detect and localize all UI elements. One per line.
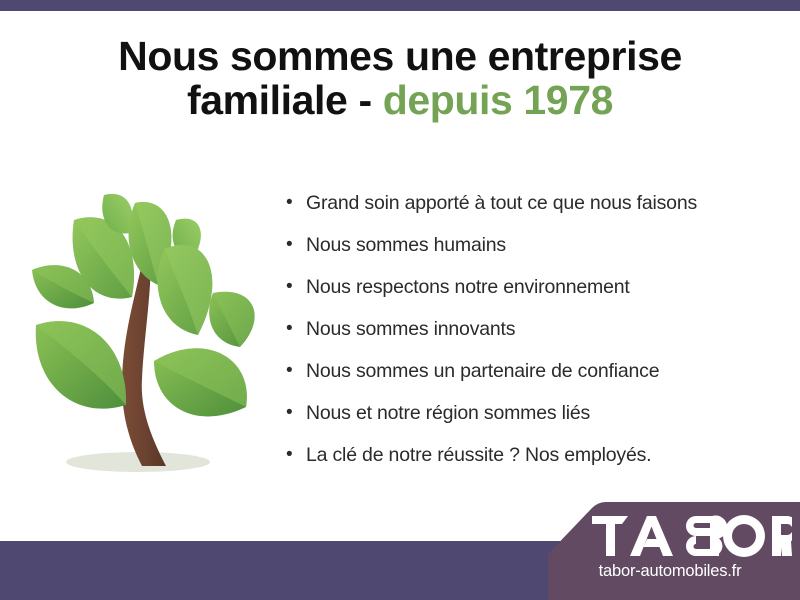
list-item-label: La clé de notre réussite ? Nos employés.	[306, 442, 651, 468]
list-item-label: Nous et notre région sommes liés	[306, 400, 590, 426]
list-item-label: Nous sommes un partenaire de confiance	[306, 358, 659, 384]
list-item-label: Nous sommes humains	[306, 232, 506, 258]
title-line-2-highlight: depuis 1978	[383, 77, 613, 123]
bullet-marker-icon: •	[286, 400, 306, 426]
title-line-2-dark: familiale -	[187, 77, 383, 123]
bullet-marker-icon: •	[286, 358, 306, 384]
list-item-label: Nous respectons notre environnement	[306, 274, 630, 300]
page-title: Nous sommes une entreprise familiale - d…	[40, 34, 760, 123]
brand-logo-panel: tabor-automobiles.fr	[548, 502, 800, 600]
title-line-2: familiale - depuis 1978	[40, 78, 760, 122]
tree-leaf-group-left	[32, 217, 134, 408]
bullet-marker-icon: •	[286, 232, 306, 258]
list-item-label: Nous sommes innovants	[306, 316, 515, 342]
list-item: • Nous sommes innovants	[286, 316, 766, 358]
bullet-marker-icon: •	[286, 316, 306, 342]
list-item: • La clé de notre réussite ? Nos employé…	[286, 442, 766, 484]
list-item: • Nous sommes humains	[286, 232, 766, 274]
top-accent-band	[0, 0, 800, 11]
bullet-marker-icon: •	[286, 190, 306, 216]
list-item: • Nous respectons notre environnement	[286, 274, 766, 316]
tree-leaf-group-right	[154, 245, 255, 416]
bullet-marker-icon: •	[286, 442, 306, 468]
list-item: • Nous sommes un partenaire de confiance	[286, 358, 766, 400]
list-item-label: Grand soin apporté à tout ce que nous fa…	[306, 190, 697, 216]
bullet-list: • Grand soin apporté à tout ce que nous …	[286, 190, 766, 484]
logo-panel-shape	[548, 502, 800, 600]
title-line-1: Nous sommes une entreprise	[40, 34, 760, 78]
presentation-slide: Nous sommes une entreprise familiale - d…	[0, 0, 800, 600]
list-item: • Grand soin apporté à tout ce que nous …	[286, 190, 766, 232]
bullet-marker-icon: •	[286, 274, 306, 300]
list-item: • Nous et notre région sommes liés	[286, 400, 766, 442]
tree-illustration	[18, 185, 273, 480]
